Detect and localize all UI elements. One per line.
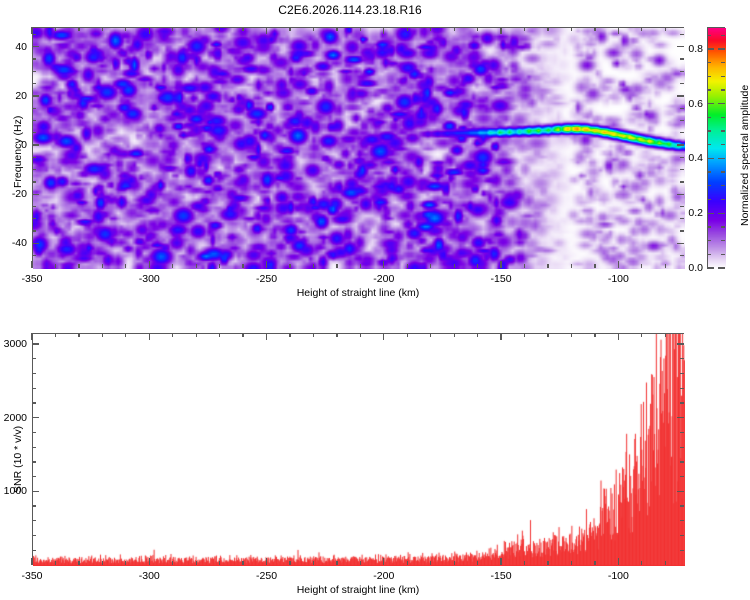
spectrogram-xtick-minor — [547, 264, 548, 268]
snr-xtick-minor-top — [196, 333, 197, 337]
snr-xtick-minor — [407, 561, 408, 565]
spectrogram-ytick-major-right — [677, 194, 684, 195]
colorbar-tick-minor — [707, 62, 711, 63]
spectrogram-xtick-minor-top — [665, 27, 666, 31]
spectrogram-xtick-minor — [430, 264, 431, 268]
spectrogram-xtick-minor — [55, 264, 56, 268]
snr-xtick-minor-top — [641, 333, 642, 337]
spectrogram-ytick-minor — [32, 108, 36, 109]
snr-ytick-minor — [32, 432, 36, 433]
snr-xtick-major — [31, 558, 32, 565]
spectrogram-ytick-minor — [32, 71, 36, 72]
spectrogram-xtick-minor-top — [360, 27, 361, 31]
spectrogram-xtick-minor — [219, 264, 220, 268]
colorbar-tick — [707, 158, 714, 159]
snr-xtick-minor-top — [336, 333, 337, 337]
spectrogram-xtick-minor — [196, 264, 197, 268]
spectrogram-xticklabel: -200 — [373, 273, 394, 285]
colorbar-tick-minor-right — [721, 226, 725, 227]
snr-ytick-major — [32, 417, 39, 418]
spectrogram-xticklabel: -150 — [491, 273, 512, 285]
spectrogram-xtick-minor-top — [55, 27, 56, 31]
colorbar-tick-minor-right — [721, 240, 725, 241]
figure-title: C2E6.2026.114.23.18.R16 — [0, 3, 700, 17]
spectrogram-xtick-major-top — [266, 27, 267, 34]
spectrogram-xtick-minor — [313, 264, 314, 268]
snr-xtick-minor-top — [524, 333, 525, 337]
snr-ytick-major-right — [677, 491, 684, 492]
snr-xticklabel: -350 — [21, 570, 42, 582]
snr-xtick-minor-top — [571, 333, 572, 337]
spectrogram-xtick-major-top — [383, 27, 384, 34]
spectrogram-xtick-minor-top — [594, 27, 595, 31]
spectrogram-ytick-minor — [32, 83, 36, 84]
spectrogram-ytick-major — [32, 144, 39, 145]
spectrogram-ytick-minor-right — [680, 83, 684, 84]
snr-xtick-minor — [289, 561, 290, 565]
spectrogram-ytick-minor-right — [680, 181, 684, 182]
spectrogram-ytick-minor — [32, 58, 36, 59]
colorbar-label: Normalized spectral amplitude — [739, 84, 750, 225]
spectrogram-ytick-minor — [32, 120, 36, 121]
colorbar-tick-minor-right — [721, 117, 725, 118]
spectrogram-ytick-minor-right — [680, 255, 684, 256]
colorbar-tick — [707, 267, 714, 268]
colorbar-tick-right — [718, 267, 725, 268]
spectrogram-ytick-major-right — [677, 144, 684, 145]
spectrogram-xtick-minor — [125, 264, 126, 268]
colorbar-tick-minor-right — [721, 254, 725, 255]
snr-xtick-major-top — [383, 333, 384, 340]
spectrogram-xtick-minor — [665, 264, 666, 268]
spectrogram-xtick-minor — [289, 264, 290, 268]
colorbar-tick-minor — [707, 76, 711, 77]
snr-ytick-major — [32, 343, 39, 344]
snr-ytick-minor-right — [680, 447, 684, 448]
spectrogram-ytick-minor — [32, 34, 36, 35]
snr-xtick-minor — [571, 561, 572, 565]
colorbar-tick — [707, 103, 714, 104]
snr-xtick-major — [149, 558, 150, 565]
spectrogram-yticklabel: 40 — [0, 41, 27, 53]
snr-ytick-minor — [32, 461, 36, 462]
spectrogram-image — [33, 28, 685, 269]
spectrogram-ytick-minor-right — [680, 58, 684, 59]
spectrogram-xticklabel: -350 — [21, 273, 42, 285]
colorbar-tick-right — [718, 213, 725, 214]
spectrogram-ytick-major — [32, 194, 39, 195]
spectrogram-ytick-minor — [32, 230, 36, 231]
spectrogram-xtick-minor-top — [102, 27, 103, 31]
snr-ytick-minor-right — [680, 432, 684, 433]
spectrogram-xtick-major — [383, 261, 384, 268]
snr-ytick-minor — [32, 550, 36, 551]
spectrogram-ytick-minor-right — [680, 34, 684, 35]
snr-xtick-minor-top — [289, 333, 290, 337]
colorbar-tick — [707, 48, 714, 49]
colorbar-tick-minor — [707, 35, 711, 36]
colorbar-tick-minor — [707, 240, 711, 241]
spectrogram-xtick-minor-top — [289, 27, 290, 31]
snr-ytick-minor-right — [680, 520, 684, 521]
spectrogram-ytick-major-right — [677, 95, 684, 96]
colorbar-tick-minor-right — [721, 76, 725, 77]
colorbar-tick-minor — [707, 89, 711, 90]
snr-ytick-minor-right — [680, 402, 684, 403]
colorbar-ticklabel: 0.2 — [679, 207, 703, 219]
snr-ytick-minor — [32, 402, 36, 403]
spectrogram-xticklabel: -300 — [139, 273, 160, 285]
spectrogram-yticklabel: 20 — [0, 90, 27, 102]
spectrogram-xtick-minor — [477, 264, 478, 268]
snr-xtick-major-top — [618, 333, 619, 340]
snr-xtick-minor — [102, 561, 103, 565]
snr-ytick-minor — [32, 358, 36, 359]
spectrogram-xtick-major — [500, 261, 501, 268]
snr-x-axis-label: Height of straight line (km) — [297, 584, 420, 596]
spectrogram-xtick-minor — [336, 264, 337, 268]
snr-ytick-minor-right — [680, 535, 684, 536]
snr-xtick-minor-top — [407, 333, 408, 337]
snr-xtick-major-top — [31, 333, 32, 340]
spectrogram-ytick-minor-right — [680, 169, 684, 170]
colorbar-tick-minor-right — [721, 89, 725, 90]
snr-yticklabel: 2000 — [0, 412, 27, 424]
snr-xticklabel: -100 — [608, 570, 629, 582]
colorbar-tick-right — [718, 158, 725, 159]
spectrogram-xtick-major — [266, 261, 267, 268]
snr-plot — [32, 333, 684, 565]
spectrogram-xtick-minor — [454, 264, 455, 268]
spectrogram-xtick-minor — [571, 264, 572, 268]
spectrogram-xtick-minor-top — [336, 27, 337, 31]
spectrogram-xtick-minor — [524, 264, 525, 268]
spectrogram-x-axis-label: Height of straight line (km) — [297, 287, 420, 299]
snr-xtick-minor — [125, 561, 126, 565]
colorbar-tick-minor-right — [721, 35, 725, 36]
snr-xtick-major — [383, 558, 384, 565]
colorbar-tick-minor-right — [721, 199, 725, 200]
snr-ytick-minor — [32, 476, 36, 477]
snr-xtick-minor — [454, 561, 455, 565]
snr-ytick-minor-right — [680, 476, 684, 477]
spectrogram-ytick-minor — [32, 169, 36, 170]
colorbar-ticklabel: 0.8 — [679, 43, 703, 55]
spectrogram-ytick-minor — [32, 132, 36, 133]
snr-xtick-major — [618, 558, 619, 565]
colorbar-tick-minor-right — [721, 62, 725, 63]
spectrogram-xtick-major-top — [149, 27, 150, 34]
spectrogram-xtick-minor-top — [172, 27, 173, 31]
colorbar-tick-minor-right — [721, 171, 725, 172]
spectrogram-ytick-minor — [32, 181, 36, 182]
spectrogram-yticklabel: -20 — [0, 188, 27, 200]
spectrogram-xtick-major — [31, 261, 32, 268]
snr-xtick-minor — [336, 561, 337, 565]
colorbar-tick-minor — [707, 171, 711, 172]
spectrogram-xtick-minor — [242, 264, 243, 268]
colorbar-tick-minor — [707, 254, 711, 255]
snr-xtick-minor-top — [102, 333, 103, 337]
snr-ytick-minor — [32, 388, 36, 389]
spectrogram-ytick-minor — [32, 255, 36, 256]
spectrogram-xtick-major — [618, 261, 619, 268]
spectrogram-xticklabel: -250 — [256, 273, 277, 285]
snr-xtick-major-top — [149, 333, 150, 340]
snr-xtick-minor — [665, 561, 666, 565]
spectrogram-ytick-major — [32, 243, 39, 244]
snr-xtick-minor — [78, 561, 79, 565]
snr-y-axis-label: SNR (10 * v/v) — [12, 426, 24, 493]
colorbar-tick-minor — [707, 130, 711, 131]
snr-ytick-minor — [32, 447, 36, 448]
snr-xtick-minor-top — [665, 333, 666, 337]
snr-xtick-minor — [524, 561, 525, 565]
spectrogram-xtick-minor-top — [430, 27, 431, 31]
spectrogram-ytick-minor-right — [680, 230, 684, 231]
snr-ytick-major-right — [677, 417, 684, 418]
snr-ytick-minor — [32, 535, 36, 536]
spectrogram-ytick-major — [32, 46, 39, 47]
spectrogram-xtick-minor-top — [524, 27, 525, 31]
snr-xticklabel: -300 — [139, 570, 160, 582]
snr-xtick-major-top — [266, 333, 267, 340]
snr-xtick-minor-top — [547, 333, 548, 337]
spectrogram-xtick-minor-top — [78, 27, 79, 31]
spectrogram-ytick-major-right — [677, 243, 684, 244]
snr-xtick-minor-top — [219, 333, 220, 337]
snr-xtick-minor — [219, 561, 220, 565]
colorbar-gradient — [708, 28, 726, 269]
colorbar-tick-minor — [707, 226, 711, 227]
spectrogram-ytick-minor-right — [680, 120, 684, 121]
snr-xtick-minor-top — [594, 333, 595, 337]
snr-xtick-minor-top — [172, 333, 173, 337]
colorbar-tick-minor — [707, 144, 711, 145]
figure-root: C2E6.2026.114.23.18.R16 -350-300-250-200… — [0, 0, 750, 600]
colorbar-tick-right — [718, 103, 725, 104]
spectrogram-ytick-minor-right — [680, 71, 684, 72]
spectrogram-xtick-minor — [172, 264, 173, 268]
spectrogram-xtick-minor-top — [313, 27, 314, 31]
snr-ytick-minor-right — [680, 550, 684, 551]
spectrogram-xtick-major-top — [500, 27, 501, 34]
snr-xtick-minor-top — [430, 333, 431, 337]
spectrogram-xtick-minor — [594, 264, 595, 268]
snr-xtick-minor — [55, 561, 56, 565]
snr-yticklabel: 3000 — [0, 338, 27, 350]
snr-xtick-minor — [172, 561, 173, 565]
snr-xtick-minor-top — [125, 333, 126, 337]
spectrogram-xtick-minor — [641, 264, 642, 268]
spectrogram-xtick-minor-top — [219, 27, 220, 31]
snr-xtick-minor-top — [477, 333, 478, 337]
spectrogram-xtick-minor-top — [407, 27, 408, 31]
snr-trace — [33, 334, 685, 566]
snr-xticklabel: -150 — [491, 570, 512, 582]
snr-xtick-minor — [477, 561, 478, 565]
spectrogram-xticklabel: -100 — [608, 273, 629, 285]
colorbar-ticklabel: 0.0 — [679, 262, 703, 274]
spectrogram-xtick-minor-top — [641, 27, 642, 31]
spectrogram-xtick-minor — [360, 264, 361, 268]
spectrogram-xtick-minor — [78, 264, 79, 268]
snr-xtick-minor-top — [360, 333, 361, 337]
spectrogram-xtick-minor-top — [454, 27, 455, 31]
snr-xtick-minor-top — [55, 333, 56, 337]
colorbar-ticklabel: 0.6 — [679, 98, 703, 110]
spectrogram-yticklabel: -40 — [0, 237, 27, 249]
snr-xtick-minor — [313, 561, 314, 565]
snr-xtick-minor — [547, 561, 548, 565]
snr-xtick-minor — [594, 561, 595, 565]
colorbar-ticklabel: 0.4 — [679, 152, 703, 164]
snr-xtick-major — [266, 558, 267, 565]
snr-xtick-minor — [641, 561, 642, 565]
spectrogram-xtick-minor-top — [242, 27, 243, 31]
snr-ytick-minor-right — [680, 388, 684, 389]
snr-ytick-major-right — [677, 343, 684, 344]
snr-ytick-minor — [32, 505, 36, 506]
snr-xtick-minor — [196, 561, 197, 565]
snr-xtick-minor-top — [454, 333, 455, 337]
spectrogram-xtick-minor-top — [547, 27, 548, 31]
snr-xtick-minor-top — [242, 333, 243, 337]
spectrogram-xtick-minor-top — [571, 27, 572, 31]
snr-ytick-minor-right — [680, 461, 684, 462]
snr-ytick-minor — [32, 373, 36, 374]
snr-xticklabel: -250 — [256, 570, 277, 582]
snr-xtick-major-top — [500, 333, 501, 340]
snr-ytick-minor-right — [680, 373, 684, 374]
snr-xtick-major — [500, 558, 501, 565]
snr-ytick-minor — [32, 520, 36, 521]
colorbar-tick-minor — [707, 185, 711, 186]
spectrogram-xtick-major-top — [618, 27, 619, 34]
snr-xticklabel: -200 — [373, 570, 394, 582]
snr-xtick-minor — [430, 561, 431, 565]
spectrogram-xtick-minor — [102, 264, 103, 268]
spectrogram-ytick-major — [32, 95, 39, 96]
snr-xtick-minor — [360, 561, 361, 565]
colorbar-tick-minor — [707, 199, 711, 200]
spectrogram-plot — [32, 27, 684, 268]
spectrogram-xtick-major — [149, 261, 150, 268]
spectrogram-ytick-minor — [32, 218, 36, 219]
spectrogram-xtick-minor-top — [477, 27, 478, 31]
snr-ytick-minor-right — [680, 358, 684, 359]
spectrogram-xtick-minor-top — [196, 27, 197, 31]
snr-xtick-minor-top — [78, 333, 79, 337]
spectrogram-ytick-minor-right — [680, 132, 684, 133]
spectrogram-ytick-minor — [32, 206, 36, 207]
colorbar-tick — [707, 213, 714, 214]
snr-xtick-minor-top — [313, 333, 314, 337]
snr-ytick-minor-right — [680, 505, 684, 506]
colorbar-tick-minor-right — [721, 185, 725, 186]
snr-xtick-minor — [242, 561, 243, 565]
spectrogram-xtick-minor-top — [125, 27, 126, 31]
colorbar-tick-right — [718, 48, 725, 49]
spectrogram-y-axis-label: Frequency (Hz) — [12, 115, 24, 187]
spectrogram-ytick-minor — [32, 157, 36, 158]
spectrogram-xtick-minor — [407, 264, 408, 268]
colorbar-tick-minor-right — [721, 144, 725, 145]
colorbar-tick-minor — [707, 117, 711, 118]
colorbar-tick-minor-right — [721, 130, 725, 131]
snr-ytick-major — [32, 491, 39, 492]
